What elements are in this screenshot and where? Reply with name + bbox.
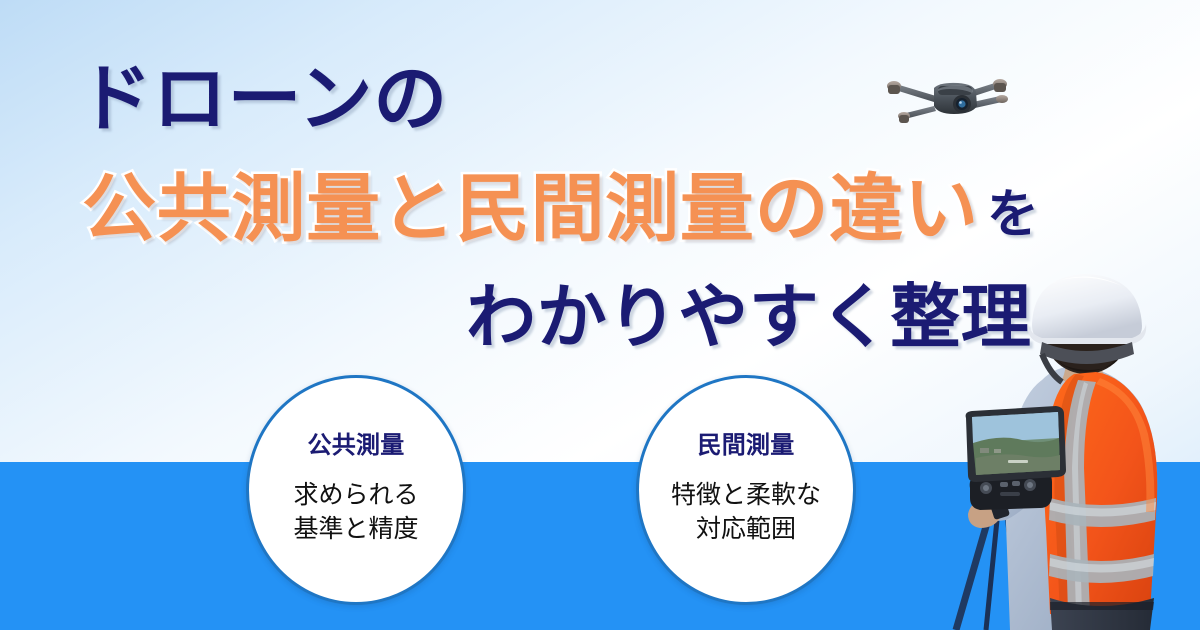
circle-title-public: 公共測量 [308,434,405,458]
circle-body-public-line-1: 求められる [293,478,418,513]
headline-particle-wo: を [987,186,1040,244]
circle-body-private-line-2: 対応範囲 [671,512,821,547]
drone-operator-illustration [950,262,1200,630]
circle-body-private-line-1: 特徴と柔軟な [671,478,821,513]
circle-body-public-line-2: 基準と精度 [293,512,418,547]
headline-line-1: ドローンの [78,62,448,136]
circle-title-private: 民間測量 [698,434,795,458]
headline-line-2: 公共測量と民間測量の違いを [82,172,1040,246]
circle-body-private: 特徴と柔軟な 対応範囲 [671,478,821,547]
info-circle-private-survey: 民間測量 特徴と柔軟な 対応範囲 [636,375,856,605]
drone-icon [880,72,1012,134]
headline-highlight-text: 公共測量と民間測量の違い [82,167,979,250]
info-circle-public-survey: 公共測量 求められる 基準と精度 [246,375,466,605]
circle-body-public: 求められる 基準と精度 [293,478,418,547]
headline-line-3: わかりやすく整理 [466,282,1032,352]
banner-canvas: ドローンの 公共測量と民間測量の違いを わかりやすく整理 公共測量 求められる … [0,0,1200,630]
